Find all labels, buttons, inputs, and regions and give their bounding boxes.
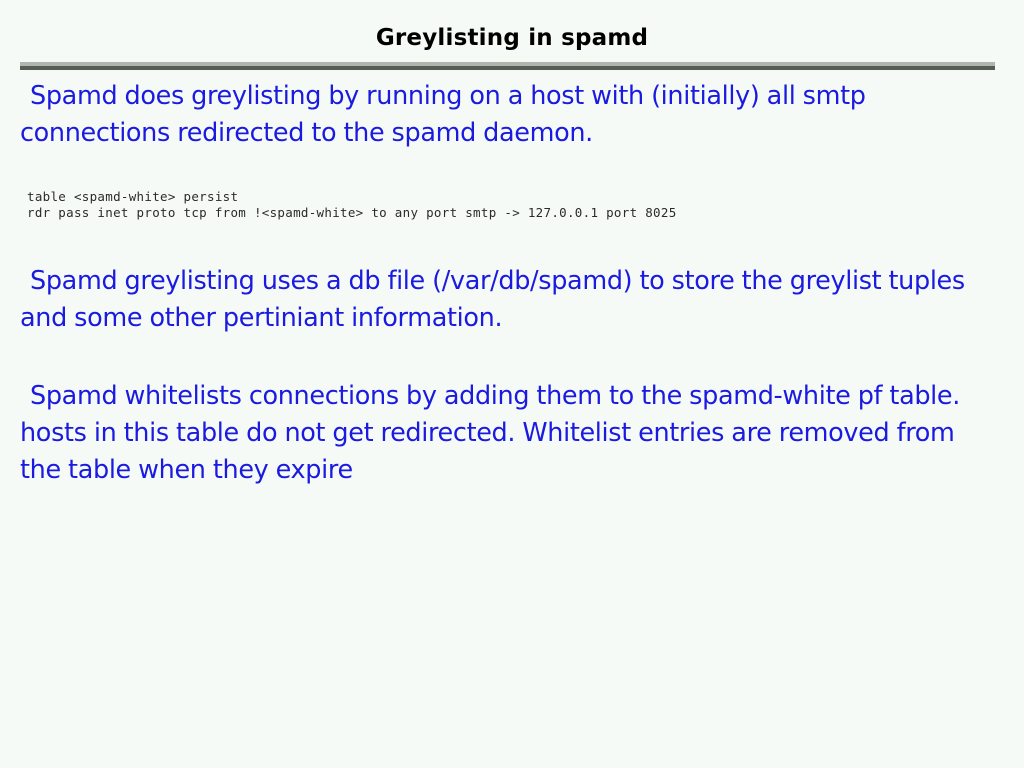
paragraph-block-1: Spamd does greylisting by running on a h… (20, 78, 995, 152)
code-line-1: table <spamd-white> persist (27, 189, 238, 204)
title-divider (20, 62, 995, 70)
paragraph-block-3: Spamd whitelists connections by adding t… (20, 378, 995, 489)
paragraph-text: Spamd does greylisting by running on a h… (20, 78, 995, 152)
code-block: table <spamd-white> persist rdr pass ine… (27, 189, 677, 221)
code-line-2: rdr pass inet proto tcp from !<spamd-whi… (27, 205, 677, 220)
paragraph-text: Spamd greylisting uses a db file (/var/d… (20, 263, 995, 337)
page-title: Greylisting in spamd (0, 24, 1024, 52)
paragraph-text: Spamd whitelists connections by adding t… (20, 378, 995, 489)
paragraph-block-2: Spamd greylisting uses a db file (/var/d… (20, 263, 995, 337)
divider-dark-band (20, 66, 995, 70)
slide: Greylisting in spamd Spamd does greylist… (0, 0, 1024, 768)
